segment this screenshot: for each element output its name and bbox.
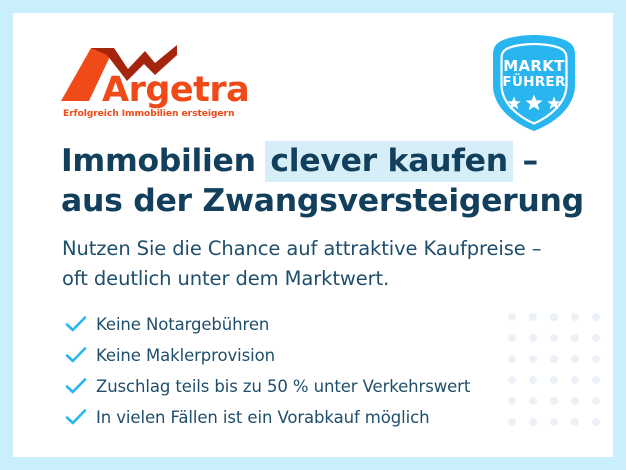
page-subtitle: Nutzen Sie die Chance auf attraktive Kau… (62, 234, 541, 293)
decorative-dot (571, 355, 579, 363)
list-item: Keine Notargebühren (65, 309, 470, 339)
subtitle-line-2: oft deutlich unter dem Marktwert. (62, 267, 389, 290)
headline-line-2: aus der Zwangsversteigerung (61, 183, 584, 219)
decorative-dot (529, 376, 537, 384)
decorative-dot (508, 313, 516, 321)
decorative-dot (592, 313, 600, 321)
decorative-dot (508, 355, 516, 363)
list-item-label: Zuschlag teils bis zu 50 % unter Verkehr… (96, 377, 470, 396)
decorative-dot (550, 397, 558, 405)
dot-grid-decoration (508, 313, 613, 439)
decorative-dot (508, 418, 516, 426)
marktfuehrer-badge: MARKT FÜHRER (488, 33, 580, 133)
decorative-dot (529, 418, 537, 426)
headline-part-1: Immobilien (61, 143, 266, 179)
decorative-dot (571, 313, 579, 321)
decorative-dot (529, 313, 537, 321)
decorative-dot (571, 334, 579, 342)
decorative-dot (529, 355, 537, 363)
benefits-list: Keine Notargebühren Keine Maklerprovisio… (65, 309, 470, 433)
decorative-dot (592, 376, 600, 384)
check-icon (65, 346, 96, 364)
list-item-label: Keine Maklerprovision (96, 346, 275, 365)
decorative-dot (550, 313, 558, 321)
decorative-dot (529, 334, 537, 342)
list-item-label: Keine Notargebühren (96, 315, 269, 334)
headline-highlight: clever kaufen (265, 141, 512, 182)
logo-tagline: Erfolgreich Immobilien ersteigern (63, 108, 234, 119)
decorative-dot (529, 397, 537, 405)
decorative-dot (571, 376, 579, 384)
list-item: In vielen Fällen ist ein Vorabkauf mögli… (65, 402, 470, 432)
decorative-dot (550, 355, 558, 363)
logo-wordmark: Argetra (102, 70, 249, 110)
list-item-label: In vielen Fällen ist ein Vorabkauf mögli… (96, 408, 429, 427)
decorative-dot (592, 334, 600, 342)
argetra-logo[interactable]: Argetra Erfolgreich Immobilien ersteiger… (59, 45, 249, 125)
decorative-dot (508, 376, 516, 384)
shield-badge-icon (488, 33, 580, 133)
list-item: Keine Maklerprovision (65, 340, 470, 370)
decorative-dot (508, 334, 516, 342)
decorative-dot (550, 334, 558, 342)
decorative-dot (550, 376, 558, 384)
check-icon (65, 315, 96, 333)
subtitle-line-1: Nutzen Sie die Chance auf attraktive Kau… (62, 237, 541, 260)
decorative-dot (592, 355, 600, 363)
headline-part-2: – (512, 143, 538, 179)
decorative-dot (592, 418, 600, 426)
card-frame: Argetra Erfolgreich Immobilien ersteiger… (13, 13, 613, 457)
decorative-dot (508, 397, 516, 405)
page-title: Immobilien clever kaufen – aus der Zwang… (61, 142, 584, 221)
decorative-dot (550, 418, 558, 426)
list-item: Zuschlag teils bis zu 50 % unter Verkehr… (65, 371, 470, 401)
check-icon (65, 377, 96, 395)
decorative-dot (592, 397, 600, 405)
decorative-dot (571, 397, 579, 405)
check-icon (65, 408, 96, 426)
decorative-dot (571, 418, 579, 426)
